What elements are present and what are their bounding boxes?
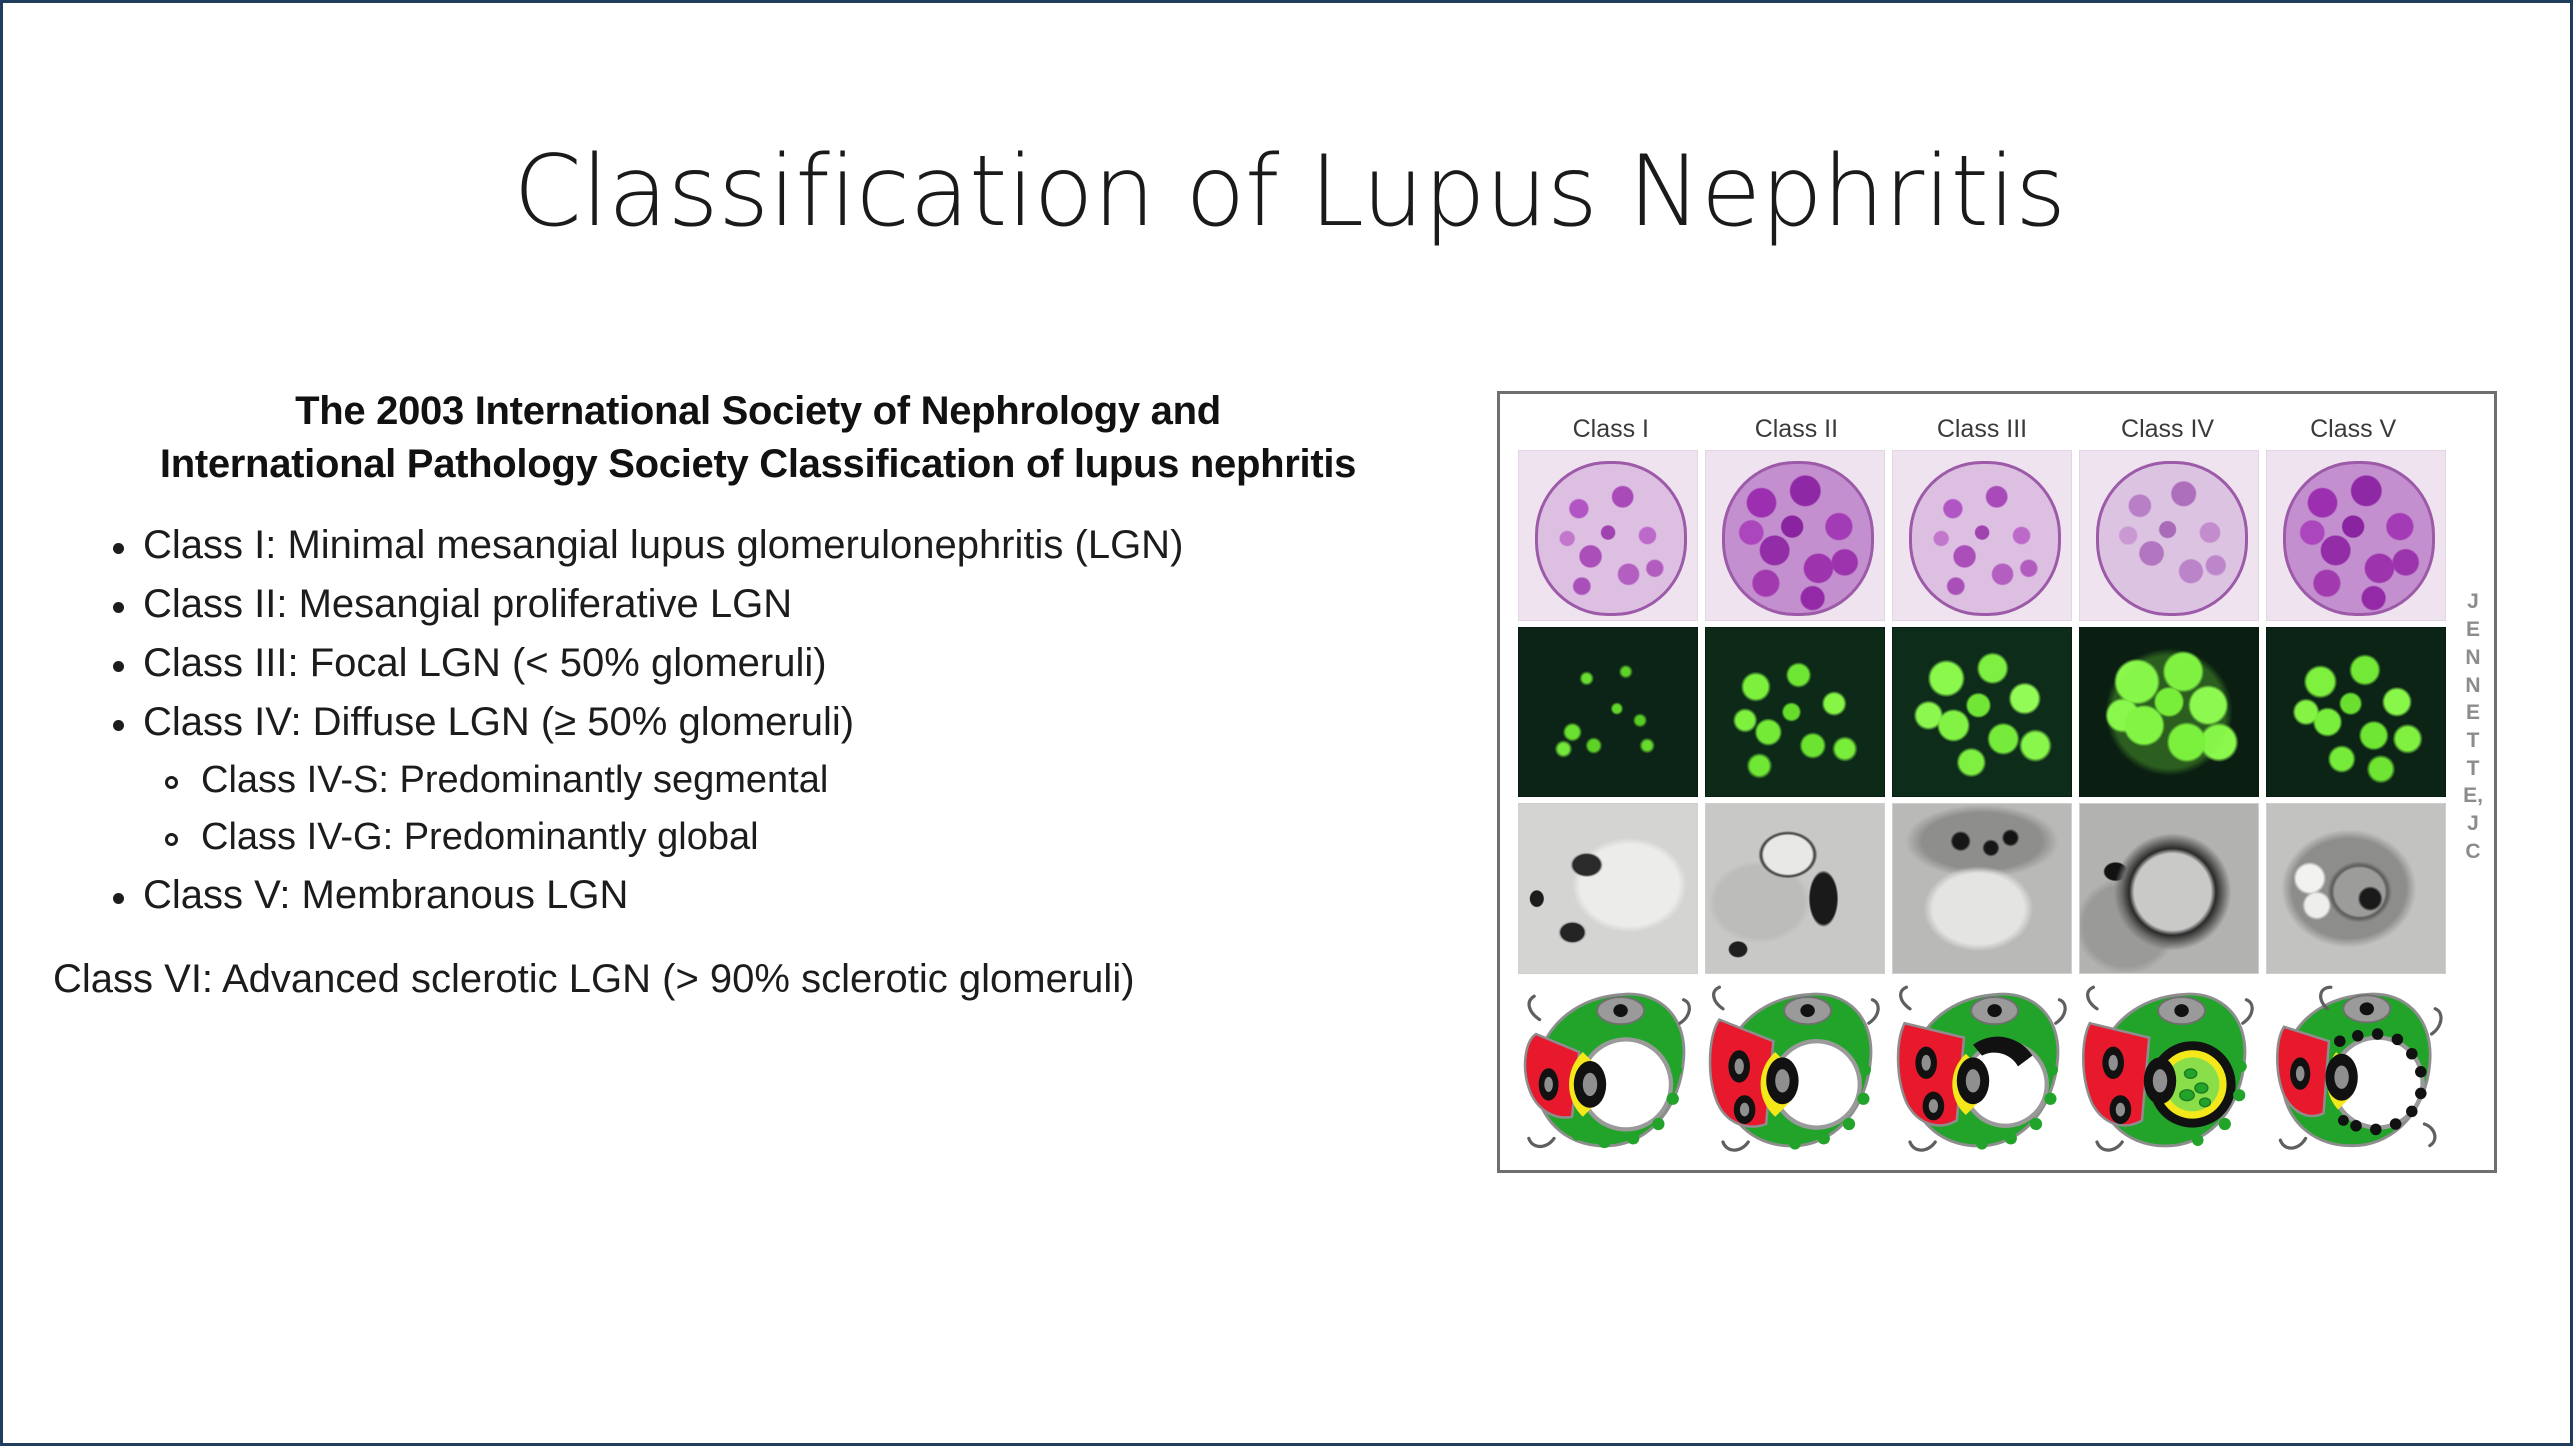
immune-deposits — [1706, 628, 1884, 797]
lm-image-class-i — [1518, 450, 1698, 621]
attribution-letter: J — [2467, 810, 2479, 838]
subtitle-line-2: International Pathology Society Classifi… — [53, 438, 1463, 491]
schematic-class-v — [2266, 980, 2446, 1160]
if-image-class-iii — [1892, 627, 2072, 798]
bullet-dot-icon — [113, 602, 124, 613]
immune-deposits — [2080, 628, 2258, 797]
capillary-loop-diagram — [1892, 980, 2072, 1160]
immune-deposits — [1893, 628, 2071, 797]
capillary-ultrastructure — [1519, 804, 1697, 973]
hollow-bullet-icon — [165, 776, 178, 789]
classification-text-column: The 2003 International Society of Nephro… — [53, 385, 1463, 999]
class-iv-s-label: Class IV-S: Predominantly segmental — [201, 759, 828, 801]
figure-attribution: J E N N E T T E, J C — [2452, 394, 2494, 1170]
pathology-figure-panel: Class I Class II Class III Class IV Clas… — [1497, 391, 2497, 1173]
glomerulus-tuft — [1909, 461, 2061, 615]
capillary-loop-diagram — [2079, 980, 2259, 1160]
attribution-letter: T — [2467, 727, 2480, 755]
em-image-class-ii — [1705, 803, 1885, 974]
class-list: Class I: Minimal mesangial lupus glomeru… — [53, 525, 1463, 915]
list-item-class-v: Class V: Membranous LGN — [53, 875, 1463, 915]
list-item-class-i: Class I: Minimal mesangial lupus glomeru… — [53, 525, 1463, 565]
list-item-class-iv-s: Class IV-S: Predominantly segmental — [143, 761, 1463, 799]
capillary-loop-diagram — [1705, 980, 1885, 1160]
lm-image-class-iv — [2079, 450, 2259, 621]
figure-column-headers: Class I Class II Class III Class IV Clas… — [1518, 408, 2446, 450]
figure-row-immunofluorescence — [1518, 627, 2446, 798]
bullet-dot-icon — [113, 543, 124, 554]
em-image-class-i — [1518, 803, 1698, 974]
glomerulus-tuft — [2096, 461, 2248, 615]
class-iv-sublist: Class IV-S: Predominantly segmental Clas… — [143, 761, 1463, 856]
class-iv-g-label: Class IV-G: Predominantly global — [201, 816, 759, 858]
column-header-class-v: Class V — [2260, 415, 2446, 444]
attribution-letter: E — [2466, 616, 2480, 644]
glomerulus-tuft — [1535, 461, 1687, 615]
if-image-class-i — [1518, 627, 1698, 798]
list-item-class-ii: Class II: Mesangial proliferative LGN — [53, 584, 1463, 624]
list-item-class-iii: Class III: Focal LGN (< 50% glomeruli) — [53, 643, 1463, 683]
attribution-letter: J — [2467, 588, 2479, 616]
em-image-class-v — [2266, 803, 2446, 974]
class-vi-line: Class VI: Advanced sclerotic LGN (> 90% … — [53, 959, 1463, 999]
if-image-class-iv — [2079, 627, 2259, 798]
capillary-ultrastructure — [2080, 804, 2258, 973]
schematic-class-i — [1518, 980, 1698, 1160]
schematic-class-iii — [1892, 980, 2072, 1160]
glomerulus-tuft — [2283, 461, 2435, 615]
column-header-class-iii: Class III — [1889, 415, 2075, 444]
column-header-class-iv: Class IV — [2075, 415, 2261, 444]
immune-deposits — [1519, 628, 1697, 797]
page-title: Classification of Lupus Nephritis — [3, 141, 2573, 244]
attribution-letter: C — [2465, 838, 2480, 866]
class-ii-label: Class II: Mesangial proliferative LGN — [143, 582, 792, 626]
attribution-letter: T — [2467, 755, 2480, 783]
lm-image-class-ii — [1705, 450, 1885, 621]
capillary-loop-diagram — [1518, 980, 1698, 1160]
class-iii-label: Class III: Focal LGN (< 50% glomeruli) — [143, 641, 827, 685]
schematic-class-ii — [1705, 980, 1885, 1160]
capillary-loop-diagram — [2266, 980, 2446, 1160]
hollow-bullet-icon — [165, 833, 178, 846]
schematic-class-iv — [2079, 980, 2259, 1160]
immune-deposits — [2267, 628, 2445, 797]
if-image-class-v — [2266, 627, 2446, 798]
list-item-class-iv-g: Class IV-G: Predominantly global — [143, 818, 1463, 856]
figure-row-light-microscopy — [1518, 450, 2446, 621]
attribution-letter: E, — [2463, 782, 2483, 810]
class-iv-label: Class IV: Diffuse LGN (≥ 50% glomeruli) — [143, 700, 854, 744]
class-i-label: Class I: Minimal mesangial lupus glomeru… — [143, 523, 1183, 567]
slide-canvas: Classification of Lupus Nephritis The 20… — [0, 0, 2573, 1446]
subtitle-block: The 2003 International Society of Nephro… — [53, 385, 1463, 491]
class-v-label: Class V: Membranous LGN — [143, 873, 628, 917]
attribution-letter: N — [2465, 672, 2480, 700]
attribution-letter: E — [2466, 699, 2480, 727]
bullet-dot-icon — [113, 661, 124, 672]
if-image-class-ii — [1705, 627, 1885, 798]
attribution-letter: N — [2465, 644, 2480, 672]
bullet-dot-icon — [113, 720, 124, 731]
figure-row-schematic — [1518, 980, 2446, 1160]
column-header-class-i: Class I — [1518, 415, 1704, 444]
lm-image-class-iii — [1892, 450, 2072, 621]
capillary-ultrastructure — [1893, 804, 2071, 973]
capillary-ultrastructure — [1706, 804, 1884, 973]
column-header-class-ii: Class II — [1704, 415, 1890, 444]
subtitle-line-1: The 2003 International Society of Nephro… — [295, 389, 1221, 433]
list-item-class-iv: Class IV: Diffuse LGN (≥ 50% glomeruli) … — [53, 702, 1463, 856]
figure-row-electron-microscopy — [1518, 803, 2446, 974]
figure-grid: Class I Class II Class III Class IV Clas… — [1500, 394, 2452, 1170]
lm-image-class-v — [2266, 450, 2446, 621]
em-image-class-iv — [2079, 803, 2259, 974]
glomerulus-tuft — [1722, 461, 1874, 615]
bullet-dot-icon — [113, 893, 124, 904]
em-image-class-iii — [1892, 803, 2072, 974]
capillary-ultrastructure — [2267, 804, 2445, 973]
